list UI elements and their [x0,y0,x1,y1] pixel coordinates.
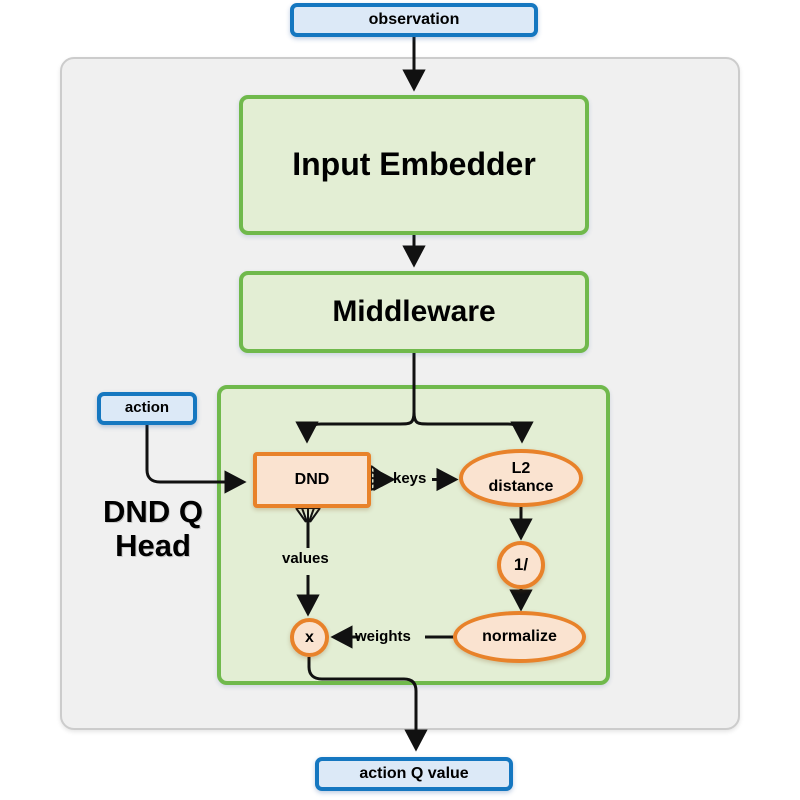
node-l2-distance[interactable]: L2 distance [459,449,583,507]
node-normalize-label: normalize [482,628,557,646]
io-action-q-value-label: action Q value [359,765,468,783]
dnd-q-head-title-line1: DND Q [103,494,203,529]
edge-label-keys: keys [393,470,426,487]
node-normalize[interactable]: normalize [453,611,586,663]
io-action-q-value[interactable]: action Q value [315,757,513,791]
block-input-embedder-label: Input Embedder [292,147,536,183]
block-middleware-label: Middleware [332,295,495,329]
node-multiply[interactable]: x [290,618,329,657]
io-action-label: action [125,400,169,417]
diagram-canvas: observation action action Q value Input … [0,0,800,800]
node-l2-distance-line2: distance [489,478,554,496]
node-l2-distance-line1: L2 [512,460,531,478]
dnd-q-head-title: DND Q Head [78,495,228,563]
node-dnd[interactable]: DND [253,452,371,508]
block-middleware[interactable]: Middleware [239,271,589,353]
io-action[interactable]: action [97,392,197,425]
node-reciprocal-label: 1/ [514,555,528,574]
dnd-q-head-title-line2: Head [115,528,191,563]
node-reciprocal[interactable]: 1/ [497,541,545,589]
io-observation-label: observation [369,11,460,29]
node-dnd-label: DND [295,471,330,489]
io-observation[interactable]: observation [290,3,538,37]
node-multiply-label: x [305,629,314,647]
block-input-embedder[interactable]: Input Embedder [239,95,589,235]
edge-label-values: values [282,550,329,567]
edge-label-weights: weights [355,628,411,645]
